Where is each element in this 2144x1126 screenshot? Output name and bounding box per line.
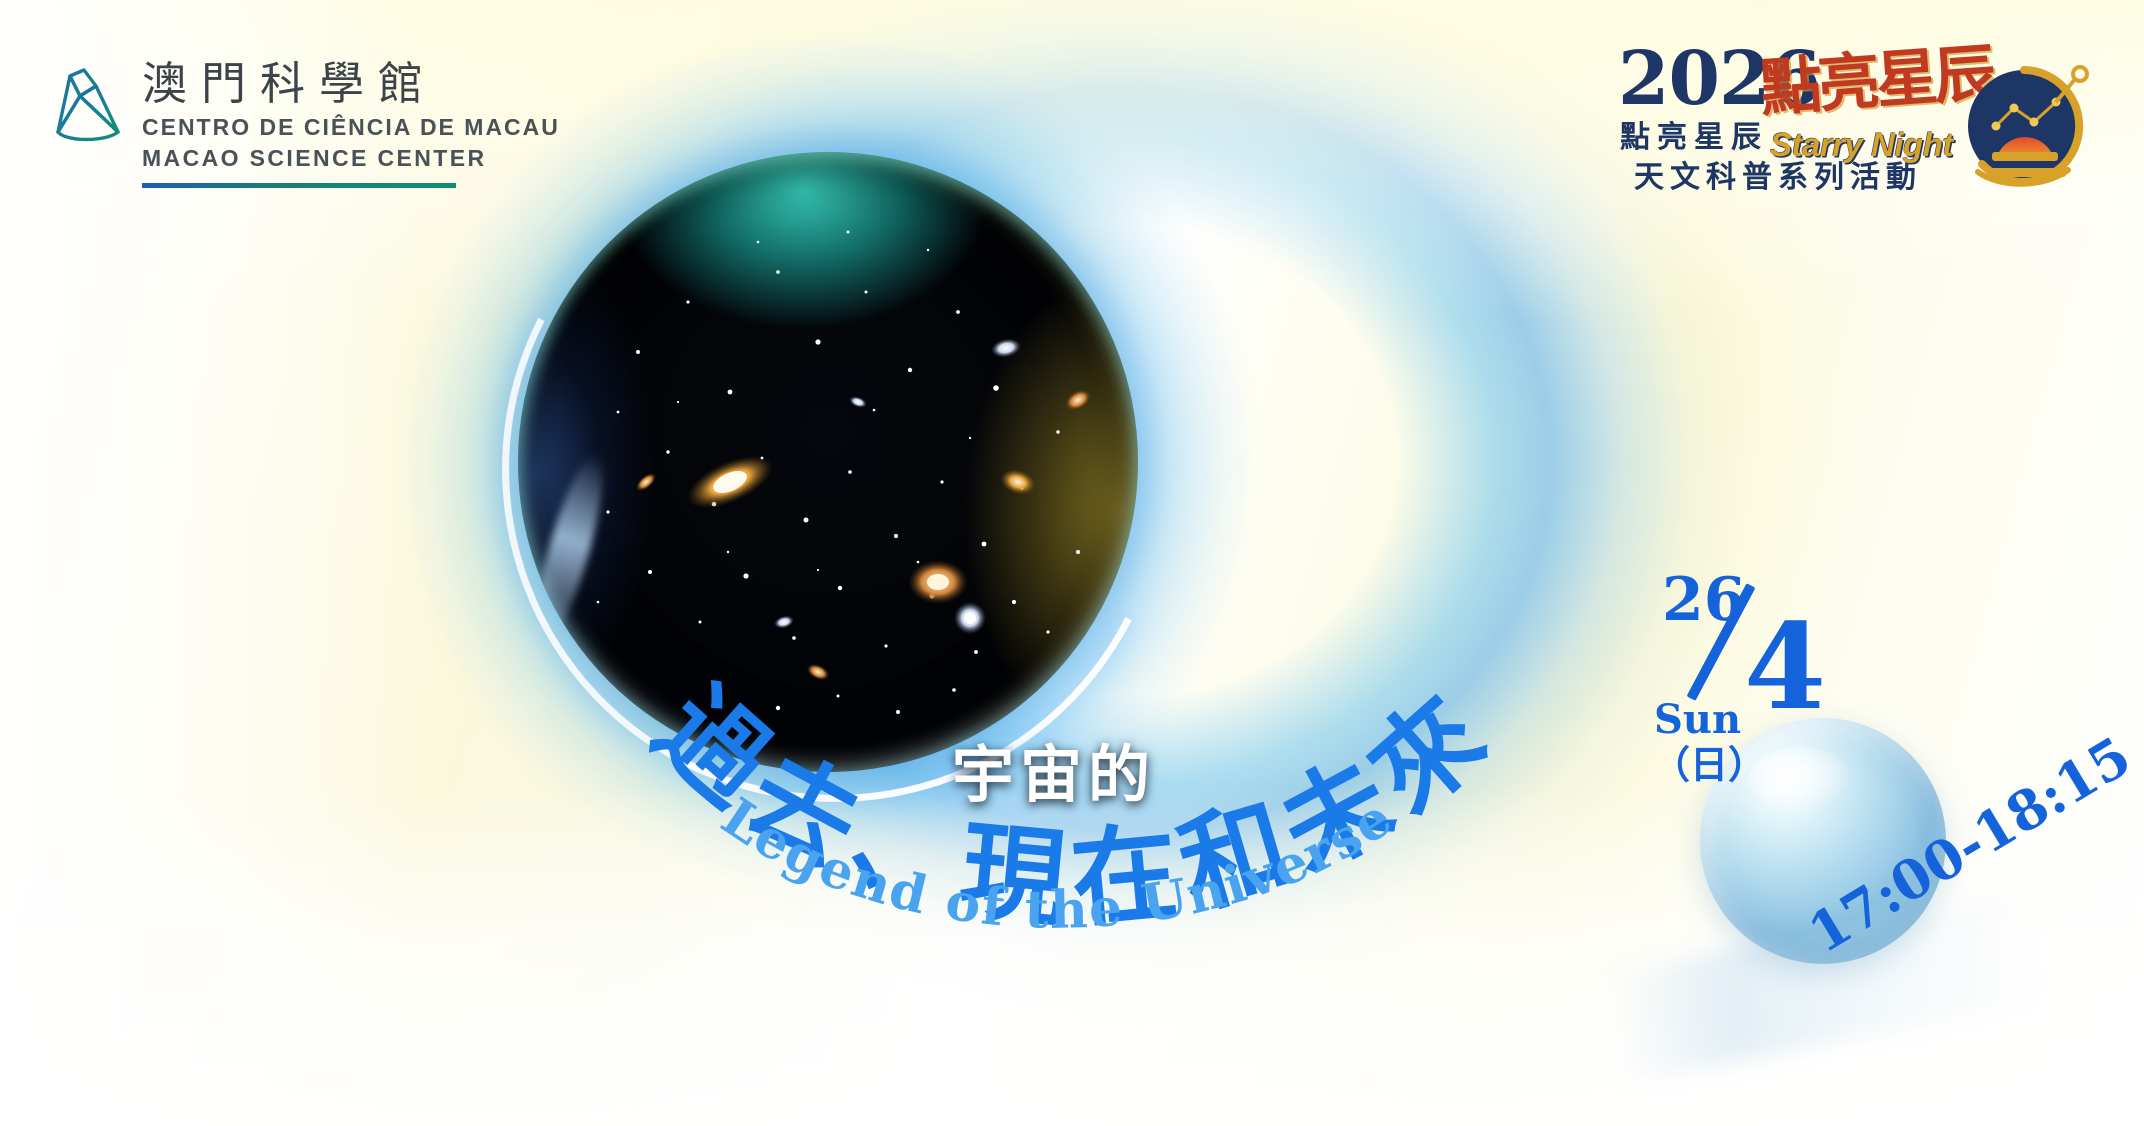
event-date-block: 26 4 Sun （日） — [1648, 570, 1948, 800]
starry-night-chinese-line1: 點亮星辰 — [1620, 112, 1768, 156]
msc-logo-text-group: 澳門科學館 CENTRO DE CIÊNCIA DE MACAU MACAO S… — [142, 52, 560, 188]
event-weekday-english: Sun — [1654, 700, 1741, 740]
macao-science-center-logo[interactable]: 澳門科學館 CENTRO DE CIÊNCIA DE MACAU MACAO S… — [44, 52, 560, 188]
title-arc-group: 過去、現在和未來 Legend of the Universe — [560, 580, 1620, 1060]
event-month: 4 — [1744, 608, 1826, 726]
observatory-dome-constellation-icon — [1952, 52, 2102, 200]
event-weekday-chinese: （日） — [1652, 746, 1766, 784]
starry-night-logo[interactable]: 2026 點亮星辰 天文科普系列活動 點亮星辰 Starry Night — [1618, 48, 2098, 203]
msc-chinese-name: 澳門科學館 — [142, 60, 560, 107]
msc-portuguese-name: CENTRO DE CIÊNCIA DE MACAU — [142, 114, 560, 141]
msc-logo-underline — [142, 183, 456, 188]
poster-canvas: 澳門科學館 CENTRO DE CIÊNCIA DE MACAU MACAO S… — [0, 0, 2144, 1126]
msc-english-name: MACAO SCIENCE CENTER — [142, 145, 560, 172]
starry-night-english: Starry Night — [1770, 126, 1953, 164]
cone-pyramid-icon — [44, 52, 128, 148]
